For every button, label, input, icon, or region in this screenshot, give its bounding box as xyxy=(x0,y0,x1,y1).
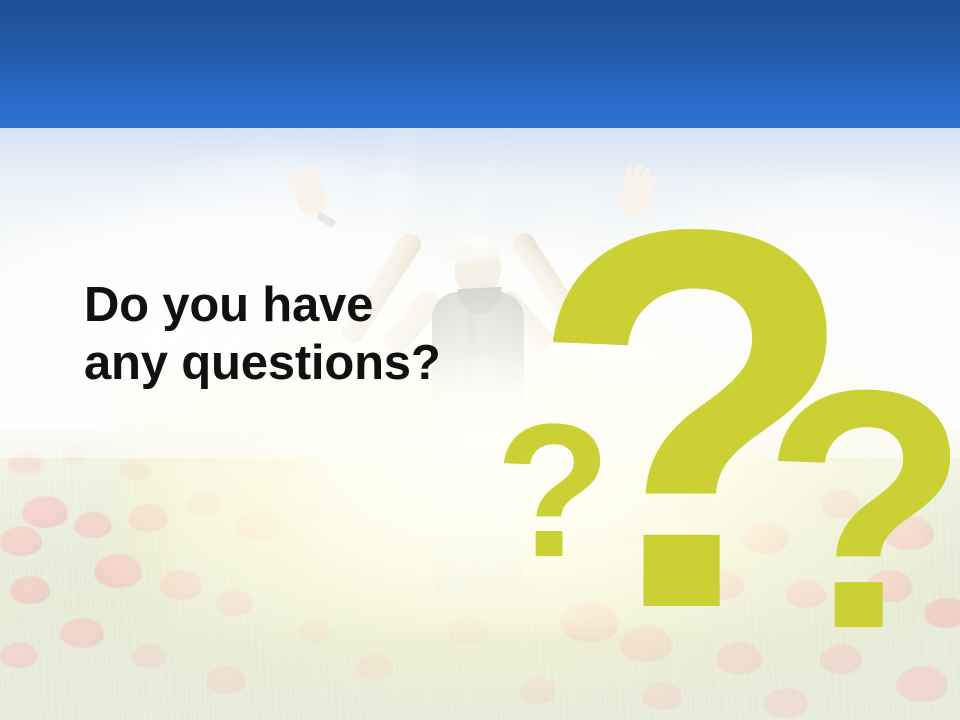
question-mark-large-icon: ? xyxy=(528,150,858,690)
slide-canvas: ? ? ? Do you have any questions? xyxy=(0,0,960,720)
slide-headline: Do you have any questions? xyxy=(84,276,554,392)
finger xyxy=(311,166,320,187)
wrist-watch xyxy=(316,212,336,229)
left-hand xyxy=(292,178,331,220)
top-banner xyxy=(0,0,960,128)
